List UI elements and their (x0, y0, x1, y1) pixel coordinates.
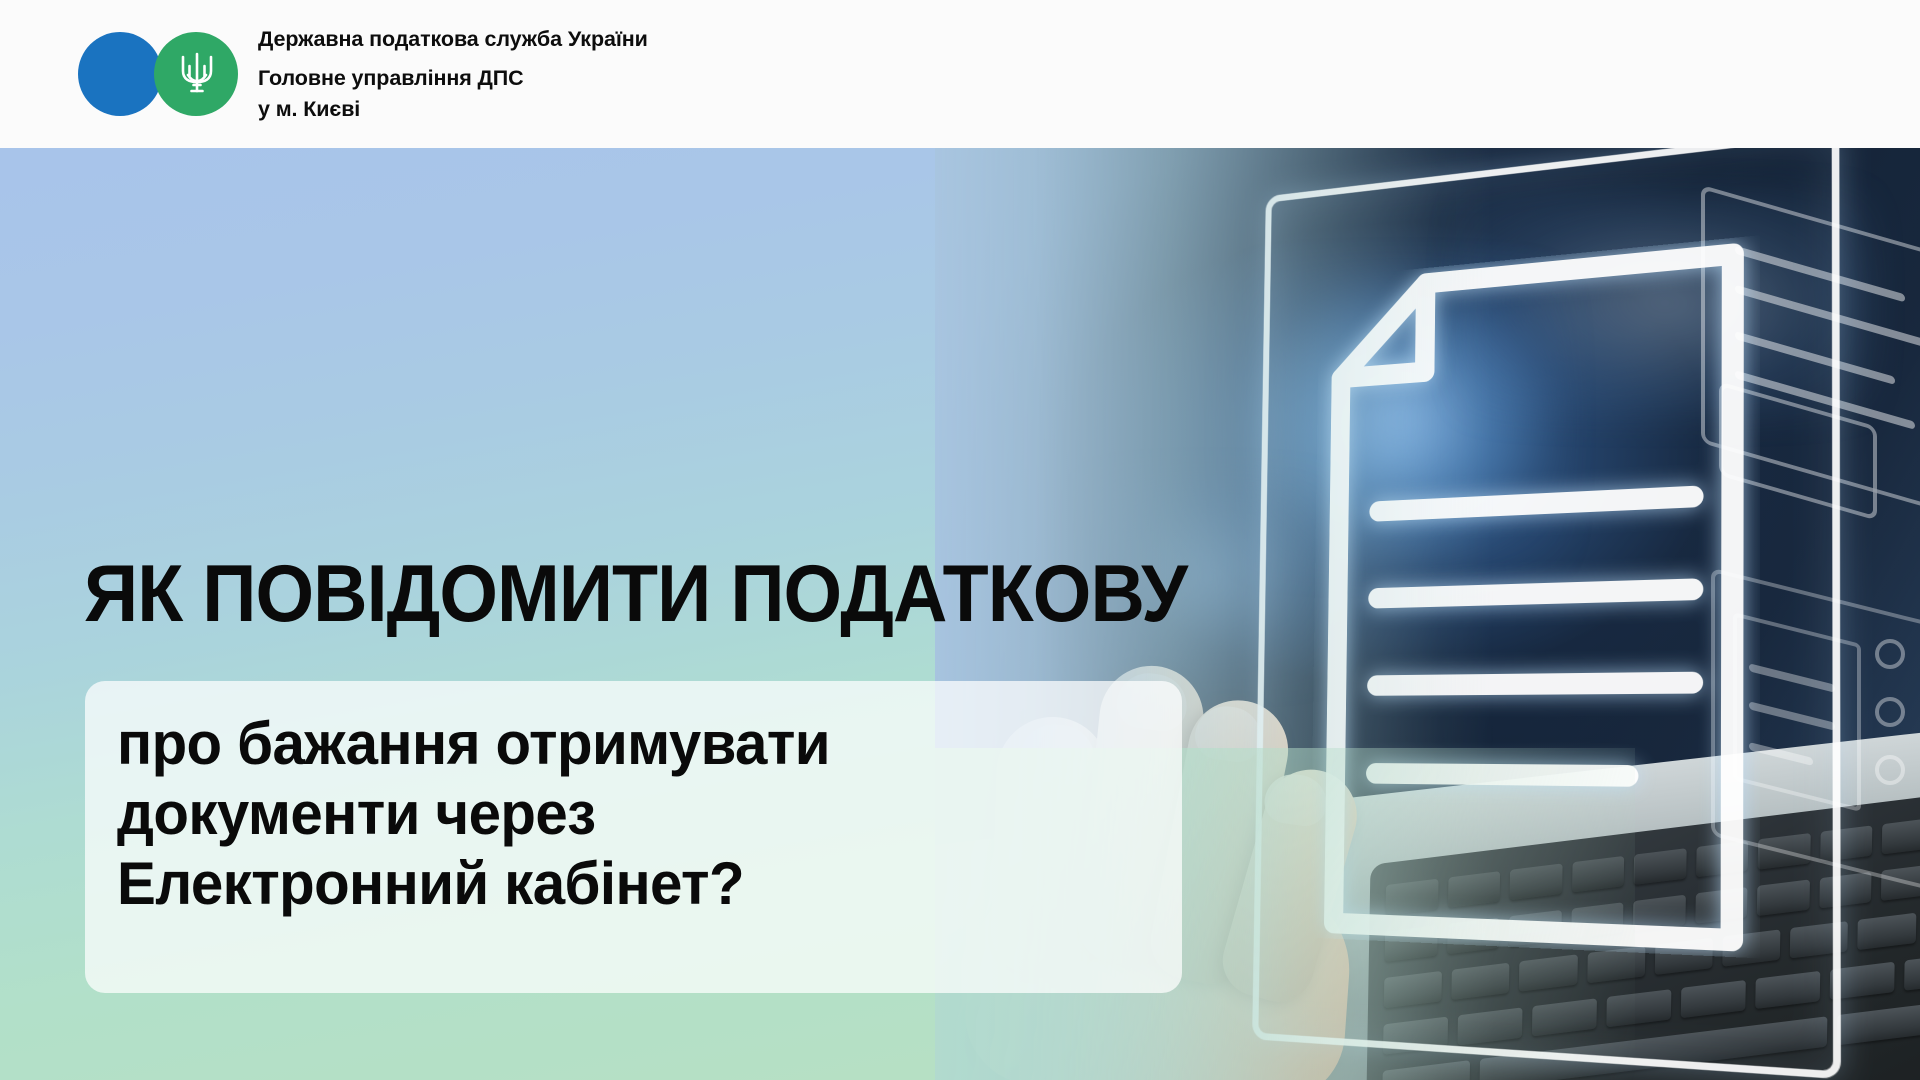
poster-canvas: Державна податкова служба України Головн… (0, 0, 1920, 1080)
header-text-block: Державна податкова служба України Головн… (250, 24, 648, 125)
logo-blue-circle (78, 32, 162, 116)
hologram-document-glyph (1310, 235, 1760, 958)
tryzub-icon (176, 49, 218, 99)
page-title: ЯК ПОВІДОМИТИ ПОДАТКОВУ (84, 554, 1187, 635)
hero-stage: ЯК ПОВІДОМИТИ ПОДАТКОВУ про бажання отри… (0, 148, 1920, 1080)
site-header: Державна податкова служба України Головн… (0, 0, 1920, 148)
subtitle-text: про бажання отримувати документи через Е… (117, 709, 1111, 920)
dps-logo[interactable] (78, 25, 250, 123)
hologram-document-icon (1235, 158, 1815, 1038)
header-inner: Державна податкова служба України Головн… (78, 0, 648, 148)
header-title-line-1: Державна податкова служба України (258, 24, 648, 55)
header-title-line-2: Головне управління ДПС (258, 63, 648, 94)
subtitle-card: про бажання отримувати документи через Е… (85, 681, 1182, 993)
header-title-line-3: у м. Києві (258, 94, 648, 125)
